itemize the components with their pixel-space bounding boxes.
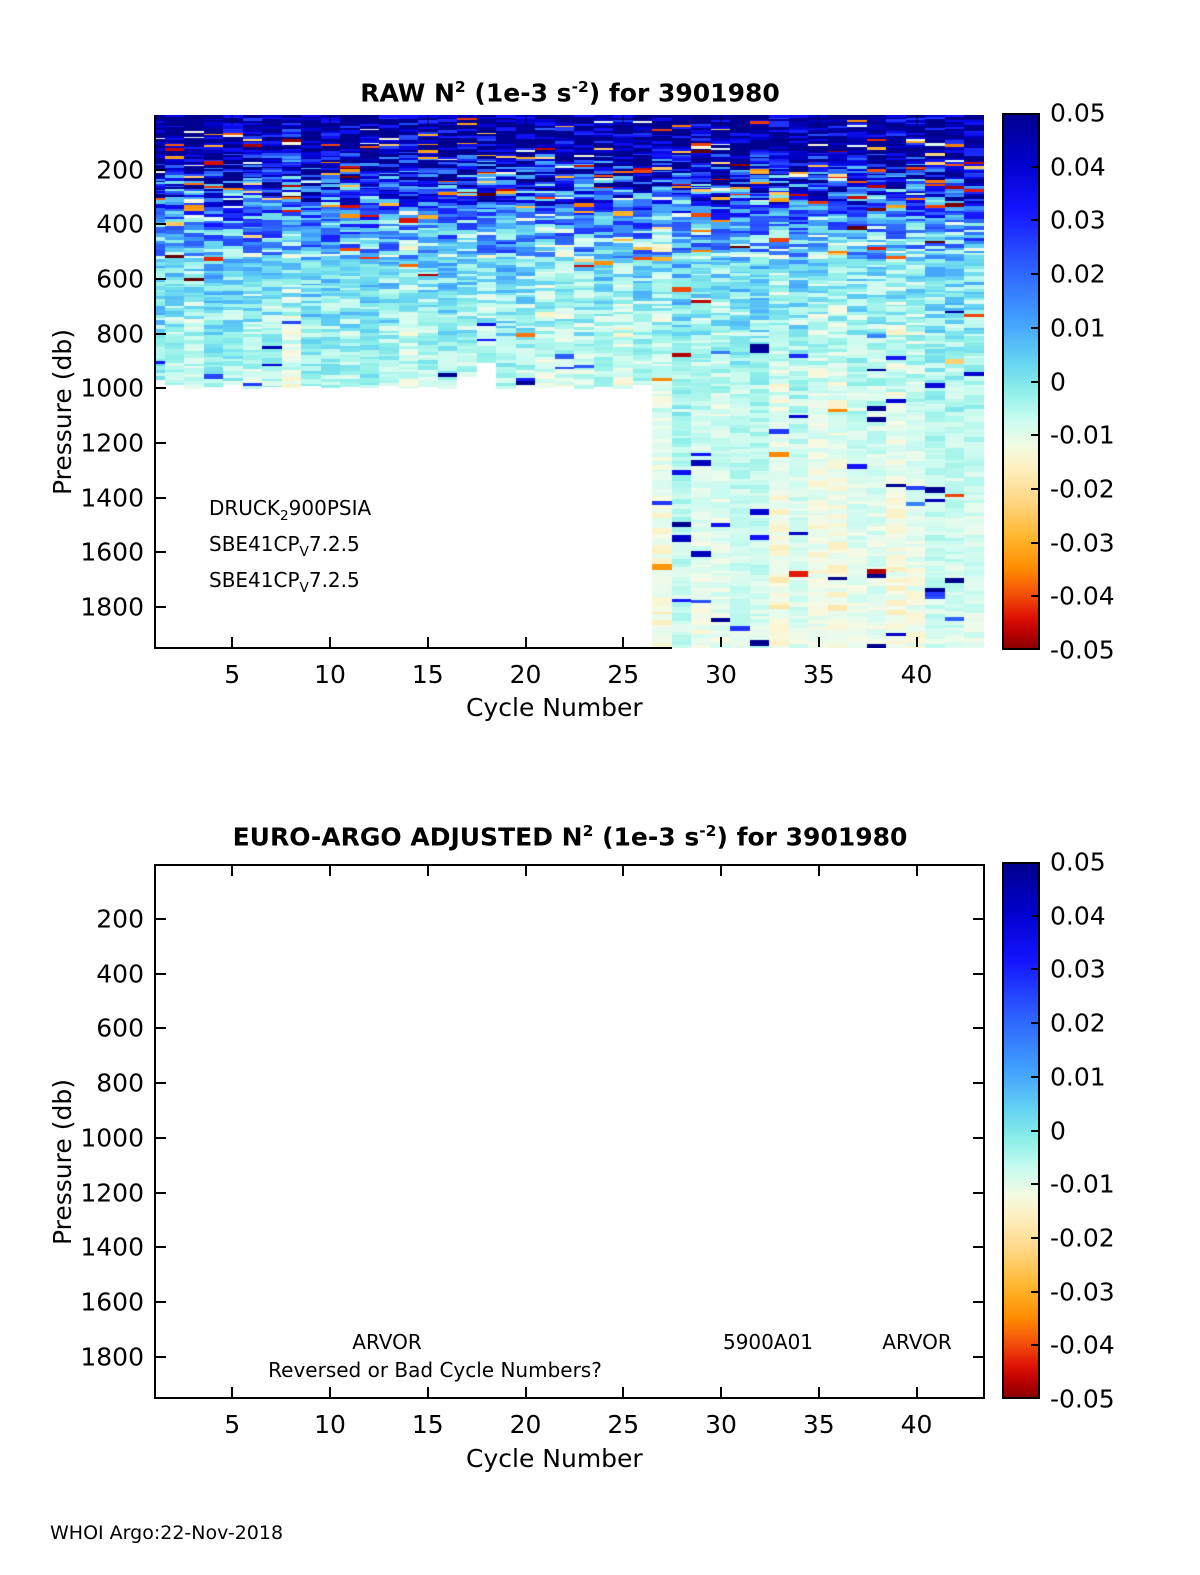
adjusted-colorbar-tick--0.02: -0.02 (1050, 1223, 1115, 1252)
raw-xtick-mark-10 (329, 637, 331, 647)
adjusted-colorbar-tick-0.04: 0.04 (1050, 901, 1106, 930)
raw-ytick-mark-400 (156, 223, 166, 225)
adj-ytick-mark-right-1600 (973, 1301, 983, 1303)
adj-xtick-mark-top-15 (427, 866, 429, 876)
adjusted-colorbar-tick--0.04: -0.04 (1050, 1331, 1115, 1360)
adj-ytick-mark-right-1400 (973, 1246, 983, 1248)
raw-xtick-label-15: 15 (412, 660, 444, 689)
raw-annotation-0-b: 900PSIA (289, 496, 372, 520)
adj-ytick-mark-right-600 (973, 1027, 983, 1029)
adj-ytick-mark-1400 (156, 1246, 166, 1248)
raw-colorbar-tick--0.04: -0.04 (1050, 582, 1115, 611)
raw-annotation-1-a: SBE41CP (209, 532, 300, 556)
adj-xtick-mark-30 (720, 1387, 722, 1397)
raw-xtick-label-40: 40 (901, 660, 933, 689)
raw-colorbar-tick--0.02: -0.02 (1050, 474, 1115, 503)
adjusted-colorbar-mark-0 (1031, 1130, 1040, 1132)
raw-xtick-label-30: 30 (705, 660, 737, 689)
raw-colorbar-tick-0.04: 0.04 (1050, 152, 1106, 181)
raw-colorbar-tick--0.03: -0.03 (1050, 528, 1115, 557)
raw-xtick-mark-top-5 (231, 115, 233, 125)
adj-ytick-label-400: 400 (0, 959, 144, 988)
adj-xtick-mark-top-20 (525, 866, 527, 876)
adjusted-annotation-arvor-2: ARVOR (882, 1330, 951, 1354)
adj-xtick-mark-40 (916, 1387, 918, 1397)
raw-xtick-label-25: 25 (607, 660, 639, 689)
adj-title-suffix: ) for 3901980 (716, 822, 907, 851)
raw-xtick-mark-35 (818, 637, 820, 647)
raw-colorbar-tick-0.05: 0.05 (1050, 99, 1106, 128)
raw-ytick-label-1800: 1800 (0, 593, 144, 622)
raw-xtick-mark-5 (231, 637, 233, 647)
raw-xtick-mark-top-10 (329, 115, 331, 125)
raw-colorbar-tick--0.01: -0.01 (1050, 421, 1115, 450)
adjusted-panel-title: EURO-ARGO ADJUSTED N2 (1e-3 s-2) for 390… (155, 822, 985, 851)
raw-annotation-0-sub: 2 (280, 508, 289, 524)
adjusted-annotation-arvor-1: ARVOR (352, 1330, 421, 1354)
raw-panel-title: RAW N2 (1e-3 s-2) for 3901980 (155, 78, 985, 107)
raw-xtick-mark-15 (427, 637, 429, 647)
adj-xtick-label-30: 30 (705, 1410, 737, 1439)
adj-xtick-mark-5 (231, 1387, 233, 1397)
adj-title-mid: (1e-3 s (593, 822, 699, 851)
raw-ytick-mark-1400 (156, 497, 166, 499)
raw-annotation-2-sub: V (300, 580, 309, 596)
raw-colorbar-mark-0 (1031, 381, 1040, 383)
adj-xtick-mark-10 (329, 1387, 331, 1397)
raw-xtick-label-20: 20 (510, 660, 542, 689)
adjusted-colorbar-mark--0.04 (1031, 1344, 1040, 1346)
raw-xtick-mark-25 (622, 637, 624, 647)
adj-xtick-label-20: 20 (510, 1410, 542, 1439)
adj-xtick-label-5: 5 (224, 1410, 240, 1439)
raw-colorbar-mark--0.04 (1031, 595, 1040, 597)
adj-ytick-label-200: 200 (0, 904, 144, 933)
raw-annotation-2: SBE41CPV7.2.5 (209, 568, 360, 596)
raw-title-sup1: 2 (455, 78, 466, 96)
adj-title-sup1: 2 (583, 822, 594, 840)
adj-xtick-label-35: 35 (803, 1410, 835, 1439)
raw-ytick-mark-1800 (156, 606, 166, 608)
adjusted-plot-area (154, 864, 985, 1399)
adj-xtick-mark-top-30 (720, 866, 722, 876)
adjusted-colorbar-tick-0.02: 0.02 (1050, 1009, 1106, 1038)
adj-ytick-mark-right-1000 (973, 1137, 983, 1139)
adj-xtick-label-25: 25 (607, 1410, 639, 1439)
raw-colorbar-mark-0.01 (1031, 327, 1040, 329)
raw-colorbar-mark--0.01 (1031, 434, 1040, 436)
adjusted-colorbar-mark--0.01 (1031, 1183, 1040, 1185)
adjusted-colorbar-tick--0.01: -0.01 (1050, 1170, 1115, 1199)
adj-ytick-mark-1200 (156, 1192, 166, 1194)
adjusted-colorbar-mark--0.03 (1031, 1291, 1040, 1293)
raw-xtick-label-35: 35 (803, 660, 835, 689)
raw-annotation-2-b: 7.2.5 (309, 568, 360, 592)
adj-xtick-mark-25 (622, 1387, 624, 1397)
raw-xtick-mark-top-20 (525, 115, 527, 125)
adj-ytick-label-1800: 1800 (0, 1342, 144, 1371)
adjusted-colorbar-tick--0.03: -0.03 (1050, 1277, 1115, 1306)
adj-ytick-mark-1000 (156, 1137, 166, 1139)
adj-title-prefix: EURO-ARGO ADJUSTED N (233, 822, 583, 851)
adjusted-colorbar-mark-0.03 (1031, 968, 1040, 970)
figure-footer: WHOI Argo:22-Nov-2018 (50, 1522, 283, 1544)
adj-ytick-mark-800 (156, 1082, 166, 1084)
adjusted-colorbar-mark-0.01 (1031, 1076, 1040, 1078)
adj-ytick-mark-right-1800 (973, 1356, 983, 1358)
raw-ytick-mark-1200 (156, 442, 166, 444)
adjusted-annotation-question: Reversed or Bad Cycle Numbers? (268, 1358, 602, 1382)
adj-xtick-label-15: 15 (412, 1410, 444, 1439)
raw-axes-left-spine (154, 115, 156, 649)
adj-ytick-mark-1800 (156, 1356, 166, 1358)
raw-title-suffix: ) for 3901980 (589, 78, 780, 107)
adj-xtick-mark-top-10 (329, 866, 331, 876)
raw-ytick-mark-1000 (156, 387, 166, 389)
adjusted-colorbar-tick-0.01: 0.01 (1050, 1062, 1106, 1091)
raw-colorbar-tick-0.01: 0.01 (1050, 313, 1106, 342)
raw-colorbar-mark--0.03 (1031, 542, 1040, 544)
raw-xtick-mark-20 (525, 637, 527, 647)
raw-ytick-label-400: 400 (0, 210, 144, 239)
adj-ytick-mark-right-1200 (973, 1192, 983, 1194)
raw-annotation-2-a: SBE41CP (209, 568, 300, 592)
raw-title-sup2: -2 (572, 78, 589, 96)
adj-xtick-mark-15 (427, 1387, 429, 1397)
raw-ytick-mark-800 (156, 333, 166, 335)
raw-colorbar-tick-0: 0 (1050, 367, 1066, 396)
adj-ytick-mark-right-400 (973, 973, 983, 975)
raw-annotation-1-b: 7.2.5 (309, 532, 360, 556)
raw-ytick-mark-600 (156, 278, 166, 280)
raw-annotation-1-sub: V (300, 544, 309, 560)
adj-xtick-label-10: 10 (314, 1410, 346, 1439)
raw-xtick-mark-top-40 (916, 115, 918, 125)
raw-annotation-0: DRUCK2900PSIA (209, 496, 371, 524)
raw-xtick-mark-40 (916, 637, 918, 647)
adj-xtick-mark-top-5 (231, 866, 233, 876)
raw-annotation-1: SBE41CPV7.2.5 (209, 532, 360, 560)
adjusted-annotation-serial: 5900A01 (723, 1330, 813, 1354)
raw-ytick-mark-1600 (156, 551, 166, 553)
raw-xtick-mark-top-25 (622, 115, 624, 125)
raw-colorbar-mark-0.02 (1031, 273, 1040, 275)
adjusted-colorbar-mark-0.04 (1031, 915, 1040, 917)
raw-xtick-mark-top-30 (720, 115, 722, 125)
adjusted-y-axis-label: Pressure (db) (48, 1079, 77, 1245)
adj-ytick-mark-200 (156, 918, 166, 920)
adjusted-colorbar-tick-0: 0 (1050, 1116, 1066, 1145)
raw-colorbar-tick-0.03: 0.03 (1050, 206, 1106, 235)
adj-ytick-mark-right-200 (973, 918, 983, 920)
raw-colorbar-mark--0.02 (1031, 488, 1040, 490)
raw-xtick-mark-top-35 (818, 115, 820, 125)
adjusted-colorbar-tick-0.03: 0.03 (1050, 955, 1106, 984)
adj-xtick-mark-top-40 (916, 866, 918, 876)
adj-ytick-label-1600: 1600 (0, 1288, 144, 1317)
raw-ytick-label-1600: 1600 (0, 538, 144, 567)
adjusted-colorbar-mark--0.02 (1031, 1237, 1040, 1239)
adj-xtick-mark-top-25 (622, 866, 624, 876)
adjusted-x-axis-label: Cycle Number (466, 1444, 643, 1473)
raw-y-axis-label: Pressure (db) (48, 329, 77, 495)
raw-colorbar-mark-0.03 (1031, 219, 1040, 221)
adj-xtick-mark-20 (525, 1387, 527, 1397)
adj-ytick-mark-right-800 (973, 1082, 983, 1084)
raw-colorbar-tick--0.05: -0.05 (1050, 636, 1115, 665)
adj-ytick-label-600: 600 (0, 1014, 144, 1043)
raw-colorbar-tick-0.02: 0.02 (1050, 260, 1106, 289)
adj-title-sup2: -2 (699, 822, 716, 840)
adjusted-colorbar-tick--0.05: -0.05 (1050, 1385, 1115, 1414)
raw-title-mid: (1e-3 s (466, 78, 572, 107)
raw-ytick-label-200: 200 (0, 155, 144, 184)
raw-x-axis-label: Cycle Number (466, 693, 643, 722)
raw-ytick-label-600: 600 (0, 265, 144, 294)
raw-xtick-label-10: 10 (314, 660, 346, 689)
adj-ytick-mark-1600 (156, 1301, 166, 1303)
adj-xtick-mark-top-35 (818, 866, 820, 876)
raw-title-prefix: RAW N (360, 78, 455, 107)
raw-colorbar-mark-0.04 (1031, 166, 1040, 168)
adjusted-colorbar-mark-0.02 (1031, 1022, 1040, 1024)
raw-annotation-0-a: DRUCK (209, 496, 280, 520)
raw-xtick-mark-top-15 (427, 115, 429, 125)
raw-xtick-mark-30 (720, 637, 722, 647)
raw-xtick-label-5: 5 (224, 660, 240, 689)
adjusted-colorbar-tick-0.05: 0.05 (1050, 848, 1106, 877)
raw-axes-bottom-spine (154, 647, 672, 649)
adj-xtick-mark-35 (818, 1387, 820, 1397)
adj-ytick-mark-600 (156, 1027, 166, 1029)
adj-ytick-mark-400 (156, 973, 166, 975)
raw-ytick-mark-200 (156, 169, 166, 171)
adj-xtick-label-40: 40 (901, 1410, 933, 1439)
